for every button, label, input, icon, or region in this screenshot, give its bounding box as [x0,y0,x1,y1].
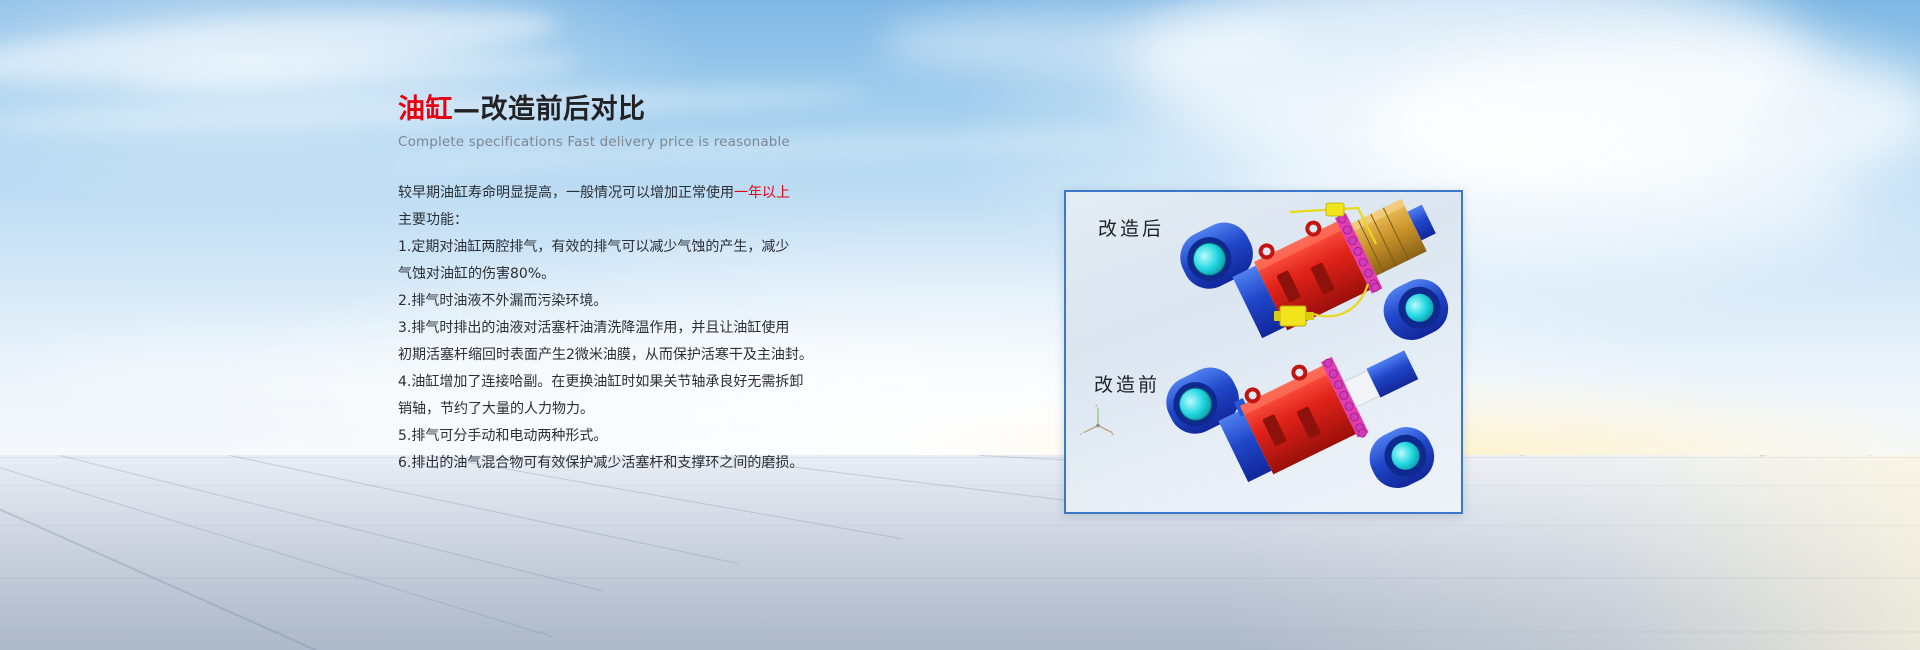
body-copy: 较早期油缸寿命明显提高，一般情况可以增加正常使用一年以上 主要功能： 1.定期对… [398,180,918,477]
content-panel: 油缸—改造前后对比 Complete specifications Fast d… [398,96,918,477]
intro-prefix: 较早期油缸寿命明显提高，一般情况可以增加正常使用 [398,185,734,201]
feature-line: 5.排气可分手动和电动两种形式。 [398,423,918,450]
feature-line: 初期活塞杆缩回时表面产生2微米油膜，从而保护活寒干及主油封。 [398,342,918,369]
section-label: 主要功能： [398,207,918,234]
svg-text:Z: Z [1095,404,1098,408]
svg-text:Y: Y [1080,432,1082,436]
page-title-rest: —改造前后对比 [453,94,646,125]
cloud-puff-icon [880,8,1300,78]
svg-text:X: X [1111,432,1114,436]
cad-render-before-modification [1148,340,1448,512]
coordinate-axis-icon: Z Y X [1080,404,1116,438]
intro-highlight: 一年以上 [734,185,790,201]
ground-plaza [0,455,1920,650]
page-title: 油缸—改造前后对比 [398,96,918,123]
intro-line: 较早期油缸寿命明显提高，一般情况可以增加正常使用一年以上 [398,180,918,207]
feature-line: 6.排出的油气混合物可有效保护减少活塞杆和支撑环之间的磨损。 [398,450,918,477]
page-subtitle: Complete specifications Fast delivery pr… [398,134,918,150]
feature-line: 销轴，节约了大量的人力物力。 [398,396,918,423]
feature-line: 2.排气时油液不外漏而污染环境。 [398,288,918,315]
page-title-highlight: 油缸 [398,94,453,125]
comparison-figure-card: 改造后 改造前 Z Y X [1064,190,1463,514]
feature-line: 气蚀对油缸的伤害80%。 [398,261,918,288]
figure-label-after: 改造后 [1098,214,1164,241]
feature-line: 4.油缸增加了连接哈副。在更换油缸时如果关节轴承良好无需拆卸 [398,369,918,396]
feature-line: 3.排气时排出的油液对活塞杆油清洗降温作用，并且让油缸使用 [398,315,918,342]
feature-line: 1.定期对油缸两腔排气，有效的排气可以减少气蚀的产生，减少 [398,234,918,261]
banner-stage: 油缸—改造前后对比 Complete specifications Fast d… [0,0,1920,650]
